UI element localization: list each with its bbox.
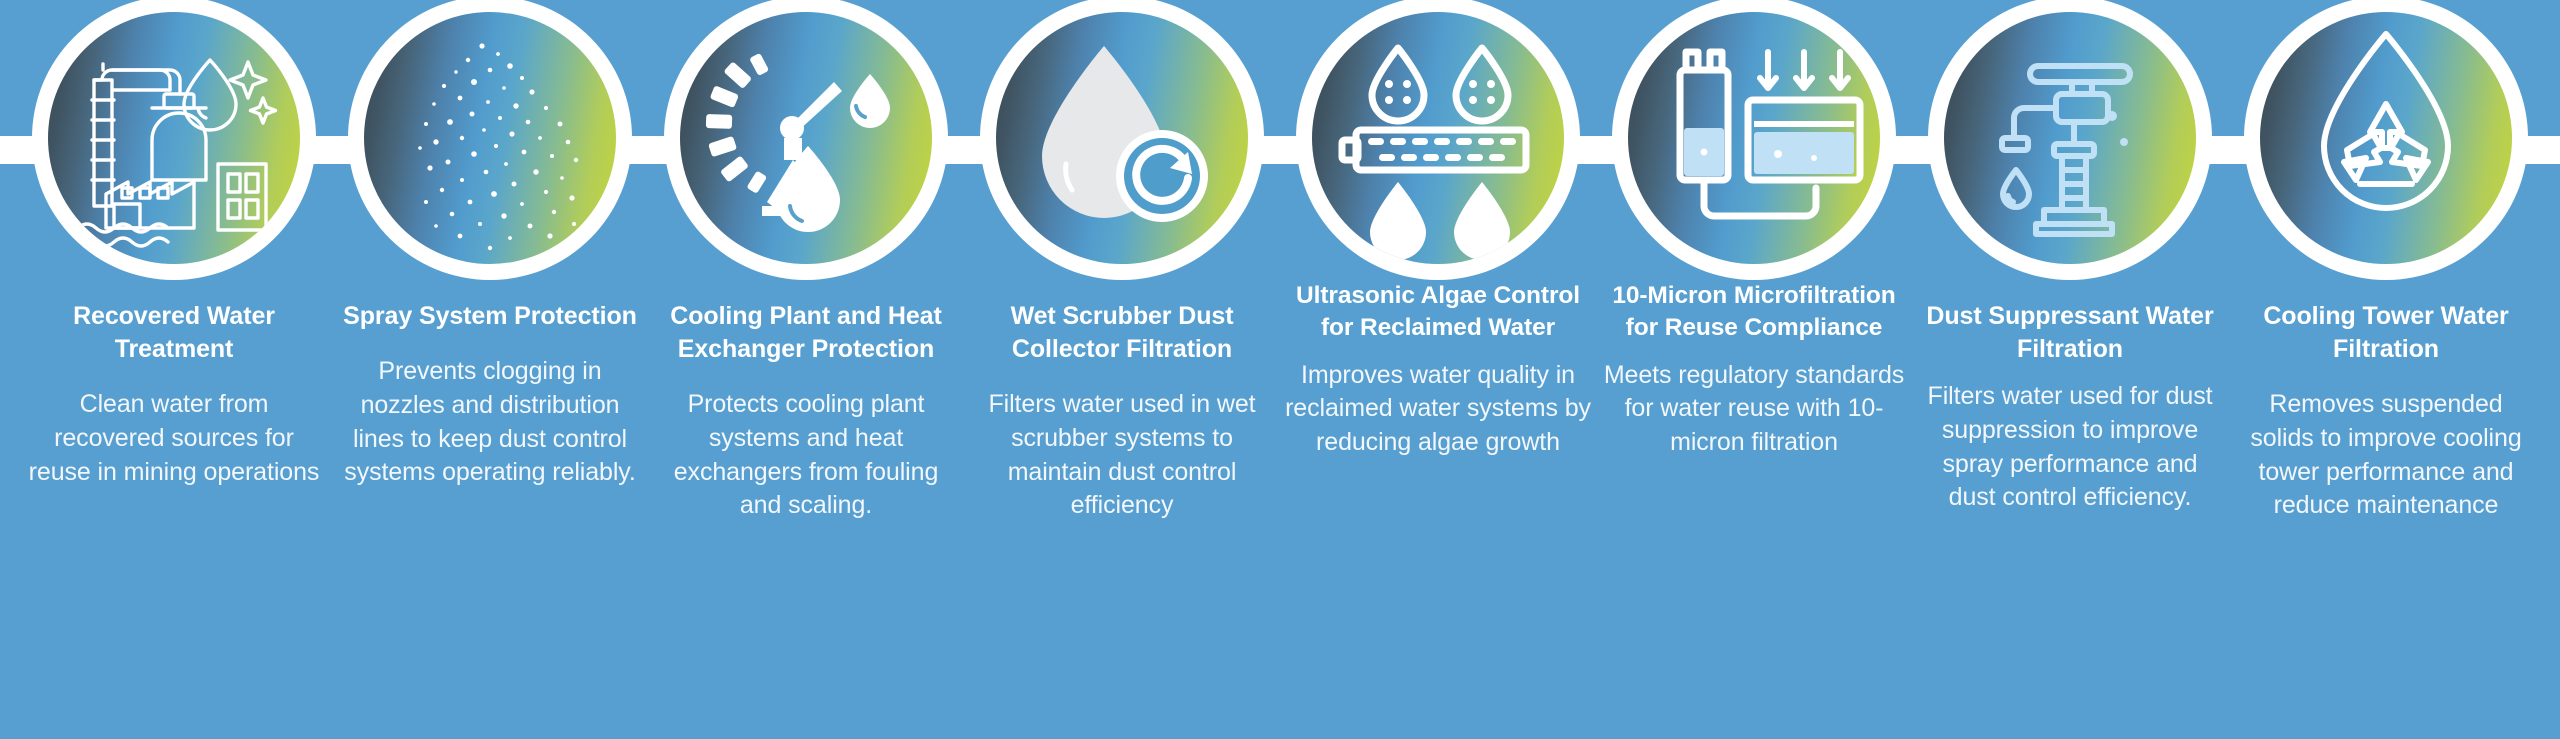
icon-circle[interactable] bbox=[334, 0, 646, 296]
item-description: Prevents clogging in nozzles and distrib… bbox=[340, 355, 640, 490]
circle-gradient-disc bbox=[996, 12, 1248, 264]
item-ultrasonic-algae-control[interactable]: Ultrasonic Algae Control for Reclaimed W… bbox=[1282, 0, 1594, 460]
item-title: Spray System Protection bbox=[340, 300, 640, 333]
item-text: Ultrasonic Algae Control for Reclaimed W… bbox=[1283, 280, 1593, 460]
item-title: Wet Scrubber Dust Collector Filtration bbox=[972, 300, 1272, 366]
circle-gradient-disc bbox=[48, 12, 300, 264]
icon-circle[interactable] bbox=[966, 0, 1278, 296]
droplet-recycle-arrows-icon bbox=[2260, 12, 2512, 264]
filter-cartridge-droplets-icon bbox=[1312, 12, 1564, 264]
icon-circle[interactable] bbox=[1282, 0, 1594, 296]
circle-gradient-disc bbox=[364, 12, 616, 264]
circle-gradient-disc bbox=[1628, 12, 1880, 264]
item-spray-system-protection[interactable]: Spray System Protection Prevents cloggin… bbox=[334, 0, 646, 490]
item-description: Meets regulatory standards for water reu… bbox=[1595, 359, 1913, 460]
circle-gradient-disc bbox=[2260, 12, 2512, 264]
item-title: Dust Suppressant Water Filtration bbox=[1920, 300, 2220, 366]
item-description: Filters water used for dust suppression … bbox=[1920, 380, 2220, 515]
item-description: Filters water used in wet scrubber syste… bbox=[972, 388, 1272, 523]
faucet-tap-droplet-icon bbox=[1944, 12, 2196, 264]
spray-droplets-icon bbox=[364, 12, 616, 264]
item-description: Improves water quality in reclaimed wate… bbox=[1283, 359, 1593, 460]
items-row: Recovered Water Treatment Clean water fr… bbox=[0, 0, 2560, 739]
icon-circle[interactable] bbox=[1598, 0, 1910, 296]
circle-gradient-disc bbox=[1312, 12, 1564, 264]
icon-circle[interactable] bbox=[1914, 0, 2226, 296]
item-10-micron-microfiltration[interactable]: 10-Micron Microfiltration for Reuse Comp… bbox=[1598, 0, 1910, 460]
item-text: Cooling Tower Water Filtration Removes s… bbox=[2236, 300, 2536, 523]
item-cooling-tower-water-filtration[interactable]: Cooling Tower Water Filtration Removes s… bbox=[2230, 0, 2542, 523]
item-text: Spray System Protection Prevents cloggin… bbox=[340, 300, 640, 490]
item-title: Recovered Water Treatment bbox=[24, 300, 324, 366]
icon-circle[interactable] bbox=[2230, 0, 2542, 296]
gauge-droplet-icon bbox=[680, 12, 932, 264]
item-description: Removes suspended solids to improve cool… bbox=[2236, 388, 2536, 523]
item-cooling-plant-heat-exchanger[interactable]: Cooling Plant and Heat Exchanger Protect… bbox=[650, 0, 962, 523]
circle-gradient-disc bbox=[680, 12, 932, 264]
item-description: Protects cooling plant systems and heat … bbox=[656, 388, 956, 523]
item-recovered-water-treatment[interactable]: Recovered Water Treatment Clean water fr… bbox=[18, 0, 330, 489]
item-wet-scrubber-dust-collector[interactable]: Wet Scrubber Dust Collector Filtration F… bbox=[966, 0, 1278, 523]
microfiltration-tank-icon bbox=[1628, 12, 1880, 264]
item-title: Cooling Plant and Heat Exchanger Protect… bbox=[656, 300, 956, 366]
item-text: Wet Scrubber Dust Collector Filtration F… bbox=[972, 300, 1272, 523]
item-dust-suppressant-water-filtration[interactable]: Dust Suppressant Water Filtration Filter… bbox=[1914, 0, 2226, 515]
icon-circle[interactable] bbox=[18, 0, 330, 296]
water-treatment-plant-icon bbox=[48, 12, 300, 264]
item-text: Dust Suppressant Water Filtration Filter… bbox=[1920, 300, 2220, 515]
item-text: Recovered Water Treatment Clean water fr… bbox=[24, 300, 324, 489]
item-text: Cooling Plant and Heat Exchanger Protect… bbox=[656, 300, 956, 523]
item-title: Cooling Tower Water Filtration bbox=[2236, 300, 2536, 366]
item-text: 10-Micron Microfiltration for Reuse Comp… bbox=[1595, 280, 1913, 460]
icon-circle[interactable] bbox=[650, 0, 962, 296]
infographic-root: Recovered Water Treatment Clean water fr… bbox=[0, 0, 2560, 739]
circle-gradient-disc bbox=[1944, 12, 2196, 264]
item-description: Clean water from recovered sources for r… bbox=[24, 388, 324, 489]
droplet-recycle-icon bbox=[996, 12, 1248, 264]
